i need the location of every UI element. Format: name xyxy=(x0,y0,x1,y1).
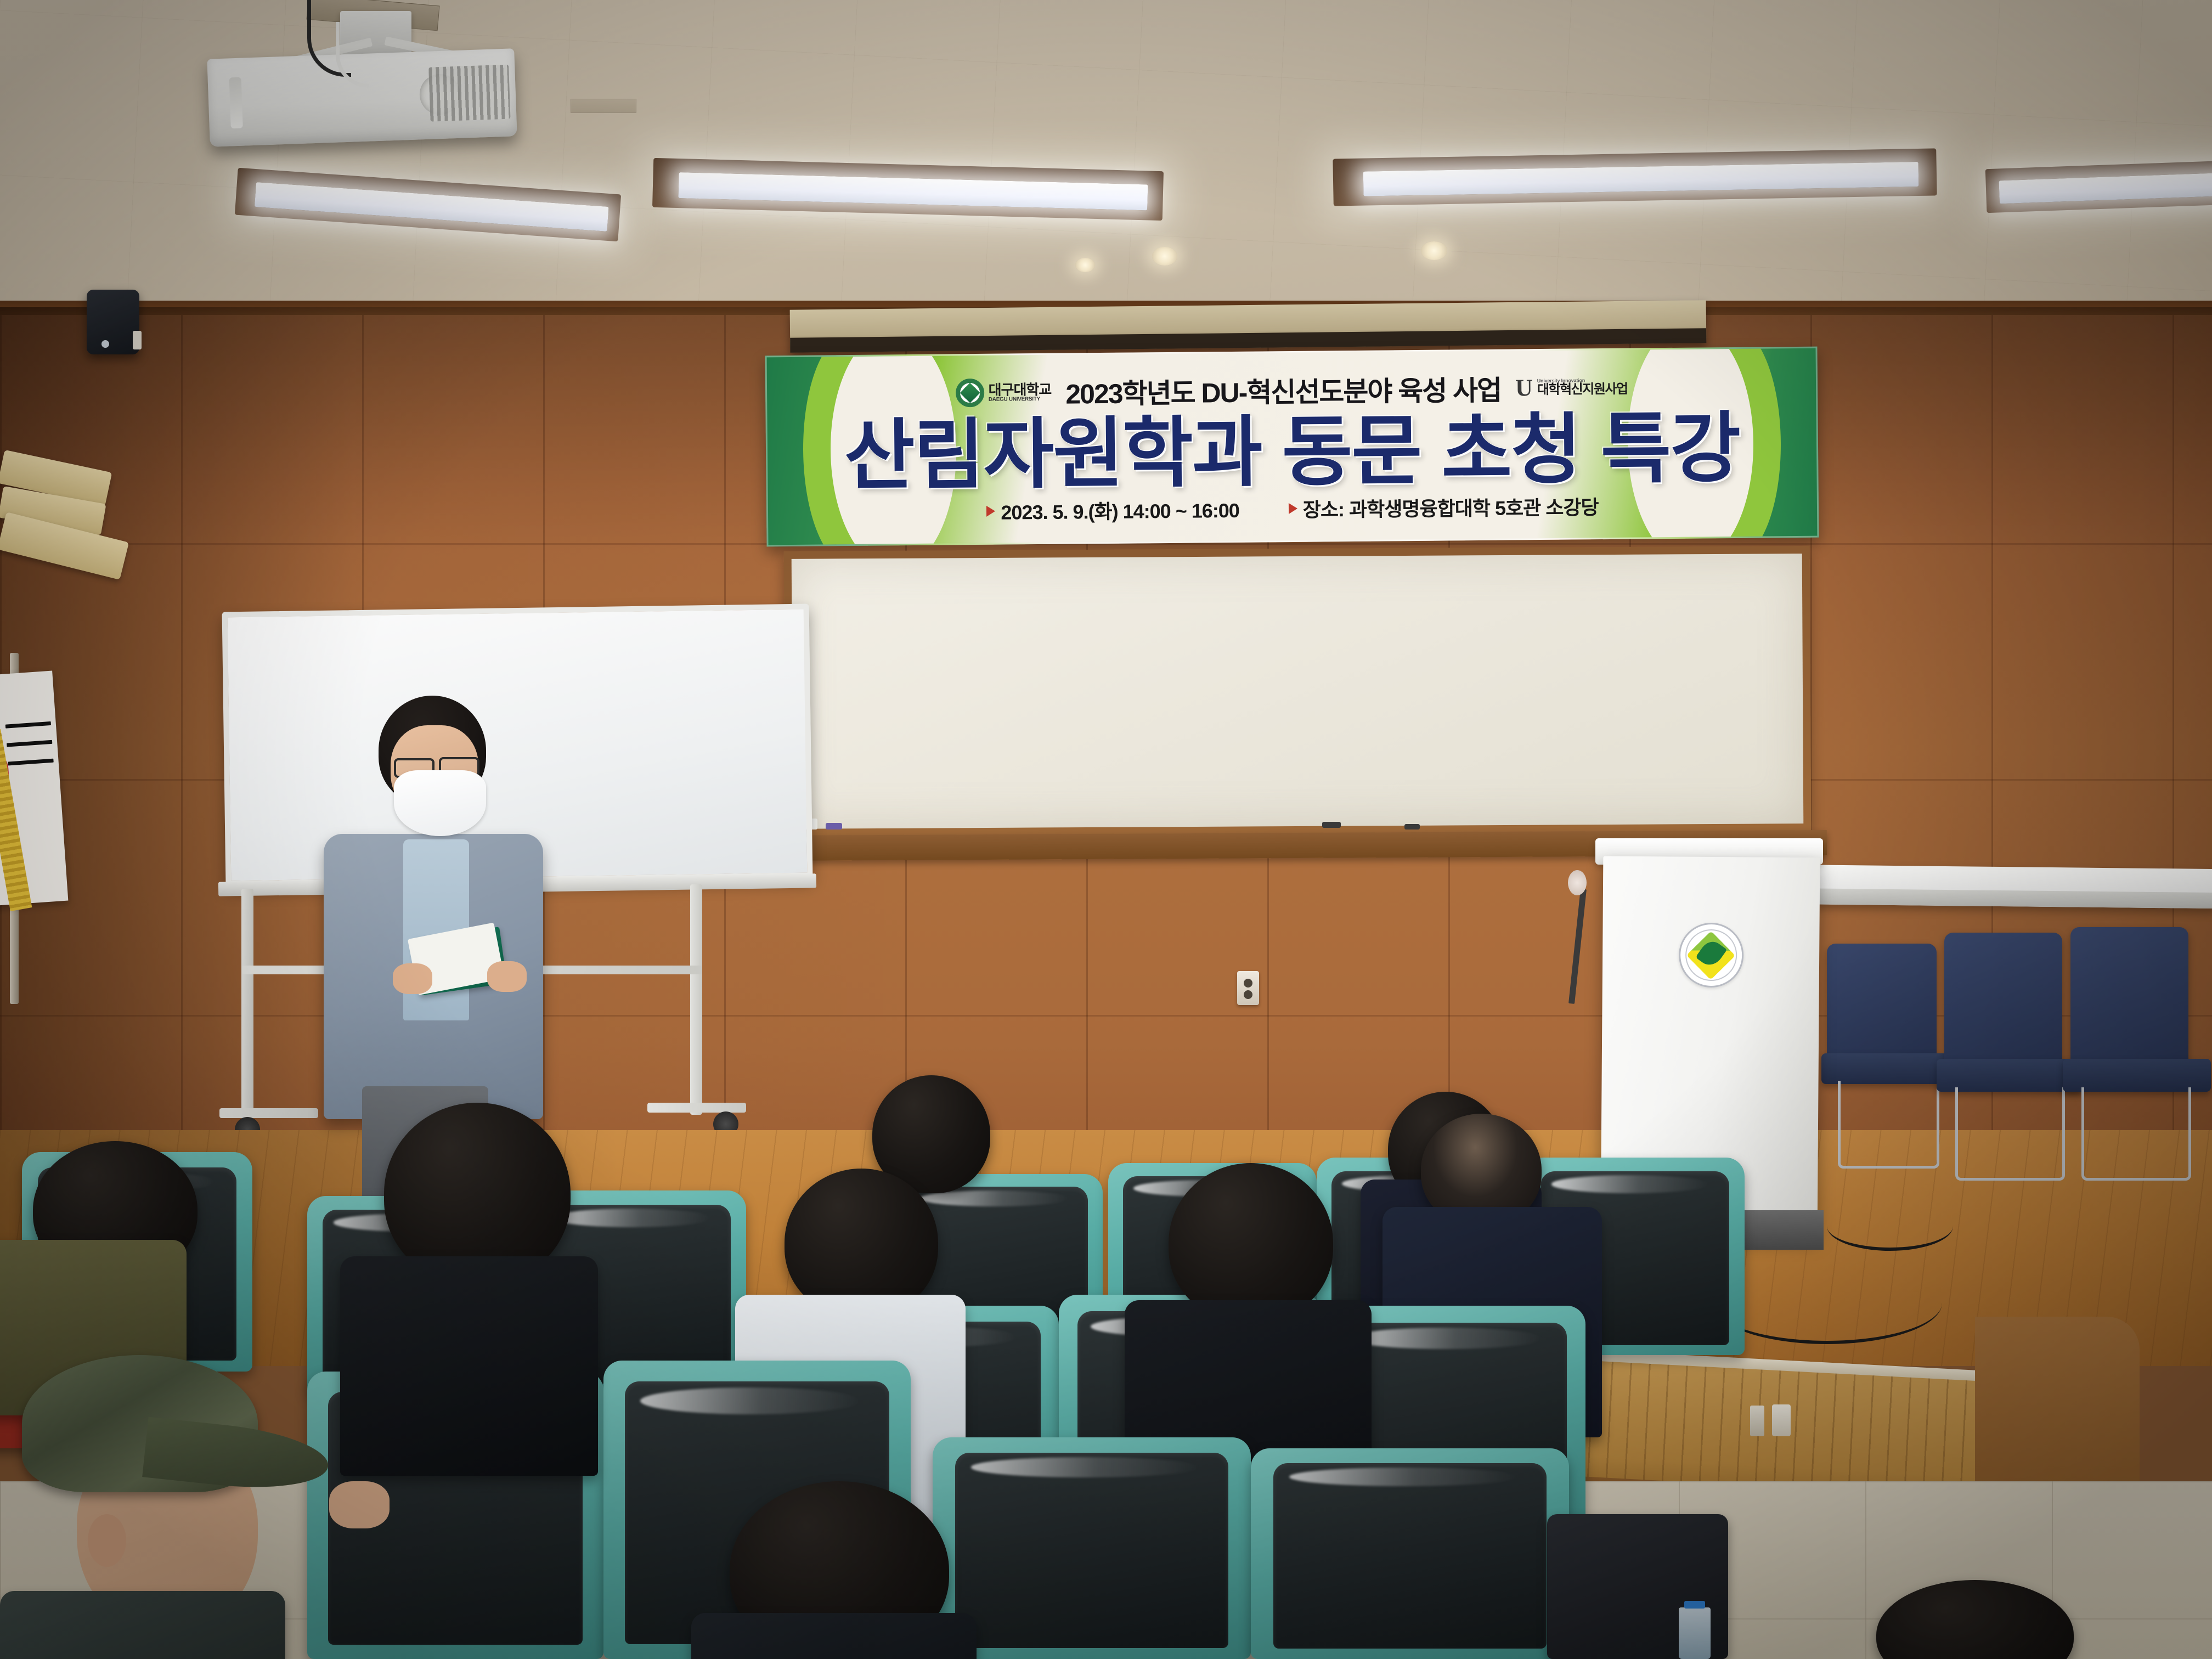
audience-torso xyxy=(691,1613,977,1659)
whiteboard-foot-right xyxy=(647,1103,746,1113)
audience-seat[interactable] xyxy=(1251,1448,1569,1659)
ceiling-light-troffer-far-right xyxy=(1985,160,2212,213)
audience-head xyxy=(1169,1163,1333,1322)
camouflage-cap xyxy=(22,1355,258,1492)
whiteboard-leg-right xyxy=(690,884,702,1115)
marker-pen-2[interactable] xyxy=(1322,822,1341,828)
projection-screen-surface xyxy=(792,554,1804,829)
presenter-face-mask xyxy=(394,770,486,836)
audience-ear xyxy=(88,1514,126,1567)
banner-main-title: 산림자원학과 동문 초청 특강 xyxy=(844,409,1740,495)
arrow-marker-icon xyxy=(1289,503,1297,514)
daegu-university-seal-icon xyxy=(1678,923,1743,988)
banner-location-item: 장소: 과학생명융합대학 5호관 소강당 xyxy=(1289,492,1599,523)
daegu-university-mark-icon xyxy=(955,378,984,407)
audience-seat[interactable] xyxy=(933,1437,1251,1659)
side-chair-3[interactable] xyxy=(2063,927,2212,1174)
whiteboard-leg-left xyxy=(241,889,253,1119)
university-innovation-logo: U University Innovation 대학혁신지원사업 xyxy=(1515,377,1628,398)
audience-hand xyxy=(329,1481,390,1528)
banner-bottom-row: 2023. 5. 9.(화) 14:00 ~ 16:00 장소: 과학생명융합대… xyxy=(986,492,1599,526)
whiteboard-foot-left xyxy=(219,1108,318,1118)
marker-pen-1[interactable] xyxy=(826,823,842,830)
innovation-logo-name-kr: 대학혁신지원사업 xyxy=(1537,383,1628,397)
wall-speaker xyxy=(87,290,139,354)
audience-torso-cap-person xyxy=(0,1591,285,1659)
banner-datetime: 2023. 5. 9.(화) 14:00 ~ 16:00 xyxy=(1001,495,1239,526)
stage-floor-switch[interactable] xyxy=(1750,1406,1764,1436)
ceiling-downlight-1 xyxy=(1152,247,1177,266)
side-table xyxy=(1783,865,2212,909)
presenter-left-hand xyxy=(393,963,432,994)
lecture-hall-photo: 대구대학교 DAEGU UNIVERSITY 2023학년도 DU-혁신선도분야… xyxy=(0,0,2212,1659)
daegu-university-logo: 대구대학교 DAEGU UNIVERSITY xyxy=(955,377,1051,407)
podium-cable-2 xyxy=(1827,1201,1953,1251)
banner-datetime-item: 2023. 5. 9.(화) 14:00 ~ 16:00 xyxy=(986,495,1239,526)
event-banner: 대구대학교 DAEGU UNIVERSITY 2023학년도 DU-혁신선도분야… xyxy=(765,347,1819,547)
banner-location: 장소: 과학생명융합대학 5호관 소강당 xyxy=(1303,492,1599,523)
microphone-head-icon xyxy=(1568,870,1587,895)
arrow-marker-icon xyxy=(986,506,995,517)
presenter-right-hand xyxy=(487,961,527,992)
ceiling-downlight-3 xyxy=(1075,258,1095,272)
marker-pen-3[interactable] xyxy=(1404,824,1420,830)
audience-torso xyxy=(340,1256,598,1476)
ceiling-vent-right xyxy=(571,99,636,113)
ceiling-downlight-2 xyxy=(1421,241,1447,260)
projection-screen xyxy=(784,546,1812,837)
banner-program-line: 2023학년도 DU-혁신선도분야 육성 사업 xyxy=(1065,368,1501,411)
stage-floor-outlet[interactable] xyxy=(1772,1404,1791,1436)
du-logo-name-en: DAEGU UNIVERSITY xyxy=(989,396,1052,402)
stage-cable xyxy=(1712,1262,1942,1344)
water-bottle[interactable] xyxy=(1679,1607,1711,1659)
du-logo-name-kr: 대구대학교 xyxy=(989,382,1052,397)
u-mark-icon: U xyxy=(1515,378,1533,397)
wall-outlet[interactable] xyxy=(1237,971,1259,1005)
